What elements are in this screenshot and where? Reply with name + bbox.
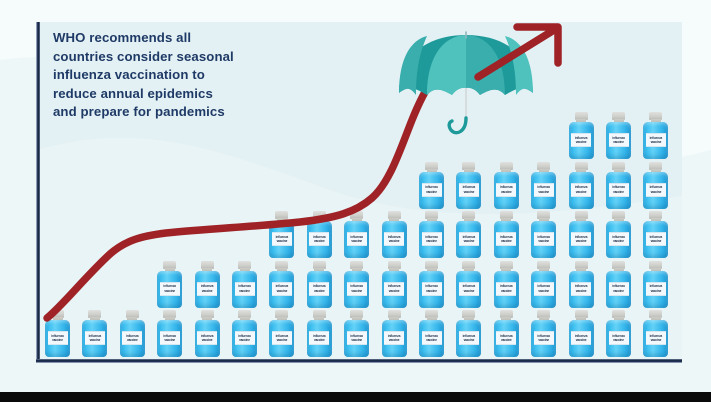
bottle-label-line2: vaccine	[239, 288, 250, 292]
bottle-label: influenzavaccine	[272, 282, 292, 296]
vaccine-bottle: influenzavaccine	[381, 310, 408, 357]
bottle-label-line2: vaccine	[202, 288, 213, 292]
vaccine-bottle: influenzavaccine	[493, 162, 520, 209]
bottle-label-line2: vaccine	[464, 338, 475, 342]
bottle-label-line2: vaccine	[351, 338, 362, 342]
vaccine-bottle: influenzavaccine	[231, 310, 258, 357]
vaccine-bottle: influenzavaccine	[306, 261, 333, 308]
bottle-label-line2: vaccine	[464, 189, 475, 193]
bottle-label-line2: vaccine	[314, 288, 325, 292]
bottle-label: influenzavaccine	[646, 282, 666, 296]
vaccine-bottle: influenzavaccine	[605, 211, 632, 258]
vaccine-bottle: influenzavaccine	[381, 261, 408, 308]
vaccine-bottle: influenzavaccine	[605, 310, 632, 357]
vaccine-bottle: influenzavaccine	[568, 310, 595, 357]
vaccine-bottle: influenzavaccine	[605, 162, 632, 209]
bottle-label: influenzavaccine	[235, 282, 255, 296]
bottle-label-line2: vaccine	[651, 140, 662, 144]
bottle-label-line2: vaccine	[576, 338, 587, 342]
vaccine-bottle: influenzavaccine	[231, 261, 258, 308]
bottle-label: influenzavaccine	[160, 331, 180, 345]
vaccine-bottle: influenzavaccine	[418, 310, 445, 357]
bottle-label-line2: vaccine	[277, 288, 288, 292]
vaccine-bottle: influenzavaccine	[194, 310, 221, 357]
bottle-label-line2: vaccine	[426, 288, 437, 292]
bottle-label-line2: vaccine	[501, 338, 512, 342]
vaccine-bottle: influenzavaccine	[568, 261, 595, 308]
vaccine-bottle: influenzavaccine	[530, 310, 557, 357]
bottle-label: influenzavaccine	[609, 133, 629, 147]
bottle-label: influenzavaccine	[272, 331, 292, 345]
bottle-label-line2: vaccine	[314, 338, 325, 342]
vaccine-bottle: influenzavaccine	[119, 310, 146, 357]
bottle-label: influenzavaccine	[122, 331, 142, 345]
bottle-label: influenzavaccine	[422, 282, 442, 296]
vaccine-bottle: influenzavaccine	[306, 310, 333, 357]
vaccine-bottle: influenzavaccine	[455, 211, 482, 258]
bottle-label-line2: vaccine	[576, 288, 587, 292]
bottle-label-line2: vaccine	[613, 189, 624, 193]
bottle-label-line2: vaccine	[538, 288, 549, 292]
bottle-label-line2: vaccine	[314, 239, 325, 243]
vaccine-bottle: influenzavaccine	[381, 211, 408, 258]
bottle-label: influenzavaccine	[646, 133, 666, 147]
vaccine-bottle: influenzavaccine	[156, 310, 183, 357]
bottle-label-line2: vaccine	[202, 338, 213, 342]
vaccine-bottle: influenzavaccine	[530, 162, 557, 209]
bottle-label-line2: vaccine	[538, 189, 549, 193]
vaccine-bottle: influenzavaccine	[156, 261, 183, 308]
bottle-label: influenzavaccine	[459, 282, 479, 296]
bottle-label-line2: vaccine	[389, 288, 400, 292]
bottle-label-line2: vaccine	[127, 338, 138, 342]
vaccine-bottle: influenzavaccine	[642, 310, 669, 357]
vaccine-bottle: influenzavaccine	[568, 211, 595, 258]
vaccine-bottle: influenzavaccine	[493, 211, 520, 258]
vaccine-bottle: influenzavaccine	[306, 211, 333, 258]
bottle-label: influenzavaccine	[609, 232, 629, 246]
bottle-label-line2: vaccine	[389, 338, 400, 342]
vaccine-bottle: influenzavaccine	[194, 261, 221, 308]
bottle-label: influenzavaccine	[309, 282, 329, 296]
bottle-label: influenzavaccine	[459, 232, 479, 246]
vaccine-bottle: influenzavaccine	[455, 261, 482, 308]
vaccine-bottle: influenzavaccine	[418, 211, 445, 258]
vaccine-bottle: influenzavaccine	[268, 211, 295, 258]
bottle-label: influenzavaccine	[347, 331, 367, 345]
bottle-label: influenzavaccine	[347, 232, 367, 246]
bottle-label: influenzavaccine	[235, 331, 255, 345]
bottle-label-line2: vaccine	[651, 288, 662, 292]
vaccine-bottle: influenzavaccine	[530, 211, 557, 258]
bottle-label: influenzavaccine	[422, 232, 442, 246]
bottle-label-line2: vaccine	[52, 338, 63, 342]
vaccine-bottle: influenzavaccine	[418, 261, 445, 308]
bottle-label: influenzavaccine	[422, 183, 442, 197]
vaccine-bottle-grid: influenzavaccineinfluenzavaccineinfluenz…	[0, 0, 711, 402]
bottle-label: influenzavaccine	[609, 282, 629, 296]
vaccine-bottle: influenzavaccine	[268, 310, 295, 357]
vaccine-bottle: influenzavaccine	[493, 310, 520, 357]
bottle-label: influenzavaccine	[347, 282, 367, 296]
bottle-label-line2: vaccine	[651, 338, 662, 342]
bottle-label-line2: vaccine	[576, 239, 587, 243]
bottle-label: influenzavaccine	[609, 331, 629, 345]
infographic-canvas: WHO recommends all countries consider se…	[0, 0, 711, 402]
bottle-label-line2: vaccine	[239, 338, 250, 342]
bottle-label: influenzavaccine	[534, 183, 554, 197]
bottle-label: influenzavaccine	[422, 331, 442, 345]
bottle-label: influenzavaccine	[85, 331, 105, 345]
vaccine-bottle: influenzavaccine	[568, 112, 595, 159]
bottle-label-line2: vaccine	[651, 239, 662, 243]
bottle-label-line2: vaccine	[164, 288, 175, 292]
vaccine-bottle: influenzavaccine	[343, 211, 370, 258]
bottle-label: influenzavaccine	[571, 331, 591, 345]
bottle-label: influenzavaccine	[496, 183, 516, 197]
bottle-label: influenzavaccine	[384, 331, 404, 345]
bottle-label-line2: vaccine	[651, 189, 662, 193]
bottle-label-line2: vaccine	[501, 288, 512, 292]
vaccine-bottle: influenzavaccine	[343, 310, 370, 357]
bottle-label-line2: vaccine	[576, 140, 587, 144]
vaccine-bottle: influenzavaccine	[605, 261, 632, 308]
bottle-label-line2: vaccine	[613, 338, 624, 342]
bottle-label: influenzavaccine	[496, 282, 516, 296]
bottle-label-line2: vaccine	[277, 239, 288, 243]
bottle-label: influenzavaccine	[571, 232, 591, 246]
bottle-label-line2: vaccine	[426, 338, 437, 342]
bottle-label-line2: vaccine	[351, 239, 362, 243]
bottle-label: influenzavaccine	[609, 183, 629, 197]
bottle-label: influenzavaccine	[534, 282, 554, 296]
bottle-label-line2: vaccine	[501, 189, 512, 193]
bottle-label: influenzavaccine	[459, 183, 479, 197]
vaccine-bottle: influenzavaccine	[493, 261, 520, 308]
bottle-label: influenzavaccine	[496, 232, 516, 246]
bottle-label-line2: vaccine	[90, 338, 101, 342]
bottle-label: influenzavaccine	[571, 183, 591, 197]
bottle-label: influenzavaccine	[571, 133, 591, 147]
bottle-label: influenzavaccine	[646, 232, 666, 246]
bottle-label: influenzavaccine	[48, 331, 68, 345]
vaccine-bottle: influenzavaccine	[268, 261, 295, 308]
vaccine-bottle: influenzavaccine	[642, 162, 669, 209]
bottle-label-line2: vaccine	[426, 189, 437, 193]
bottle-label: influenzavaccine	[197, 282, 217, 296]
bottle-label: influenzavaccine	[197, 331, 217, 345]
bottle-label-line2: vaccine	[464, 239, 475, 243]
bottom-strip	[0, 392, 711, 402]
vaccine-bottle: influenzavaccine	[605, 112, 632, 159]
bottle-label-line2: vaccine	[351, 288, 362, 292]
bottle-label-line2: vaccine	[277, 338, 288, 342]
bottle-label-line2: vaccine	[538, 239, 549, 243]
bottle-label-line2: vaccine	[613, 288, 624, 292]
bottle-label: influenzavaccine	[534, 331, 554, 345]
bottle-label: influenzavaccine	[272, 232, 292, 246]
bottle-label: influenzavaccine	[459, 331, 479, 345]
vaccine-bottle: influenzavaccine	[568, 162, 595, 209]
bottle-label: influenzavaccine	[384, 232, 404, 246]
vaccine-bottle: influenzavaccine	[530, 261, 557, 308]
bottle-label-line2: vaccine	[164, 338, 175, 342]
vaccine-bottle: influenzavaccine	[455, 162, 482, 209]
bottle-label: influenzavaccine	[160, 282, 180, 296]
bottle-label-line2: vaccine	[501, 239, 512, 243]
bottle-label-line2: vaccine	[613, 239, 624, 243]
bottle-label: influenzavaccine	[534, 232, 554, 246]
vaccine-bottle: influenzavaccine	[44, 310, 71, 357]
vaccine-bottle: influenzavaccine	[455, 310, 482, 357]
vaccine-bottle: influenzavaccine	[418, 162, 445, 209]
bottle-label-line2: vaccine	[538, 338, 549, 342]
vaccine-bottle: influenzavaccine	[642, 261, 669, 308]
vaccine-bottle: influenzavaccine	[81, 310, 108, 357]
bottle-label-line2: vaccine	[464, 288, 475, 292]
bottle-label: influenzavaccine	[309, 331, 329, 345]
bottle-label-line2: vaccine	[613, 140, 624, 144]
bottle-label: influenzavaccine	[309, 232, 329, 246]
bottle-label: influenzavaccine	[571, 282, 591, 296]
bottle-label: influenzavaccine	[496, 331, 516, 345]
bottle-label: influenzavaccine	[384, 282, 404, 296]
bottle-label-line2: vaccine	[389, 239, 400, 243]
bottle-label: influenzavaccine	[646, 183, 666, 197]
bottle-label-line2: vaccine	[576, 189, 587, 193]
vaccine-bottle: influenzavaccine	[642, 112, 669, 159]
bottle-label-line2: vaccine	[426, 239, 437, 243]
vaccine-bottle: influenzavaccine	[642, 211, 669, 258]
bottle-label: influenzavaccine	[646, 331, 666, 345]
vaccine-bottle: influenzavaccine	[343, 261, 370, 308]
